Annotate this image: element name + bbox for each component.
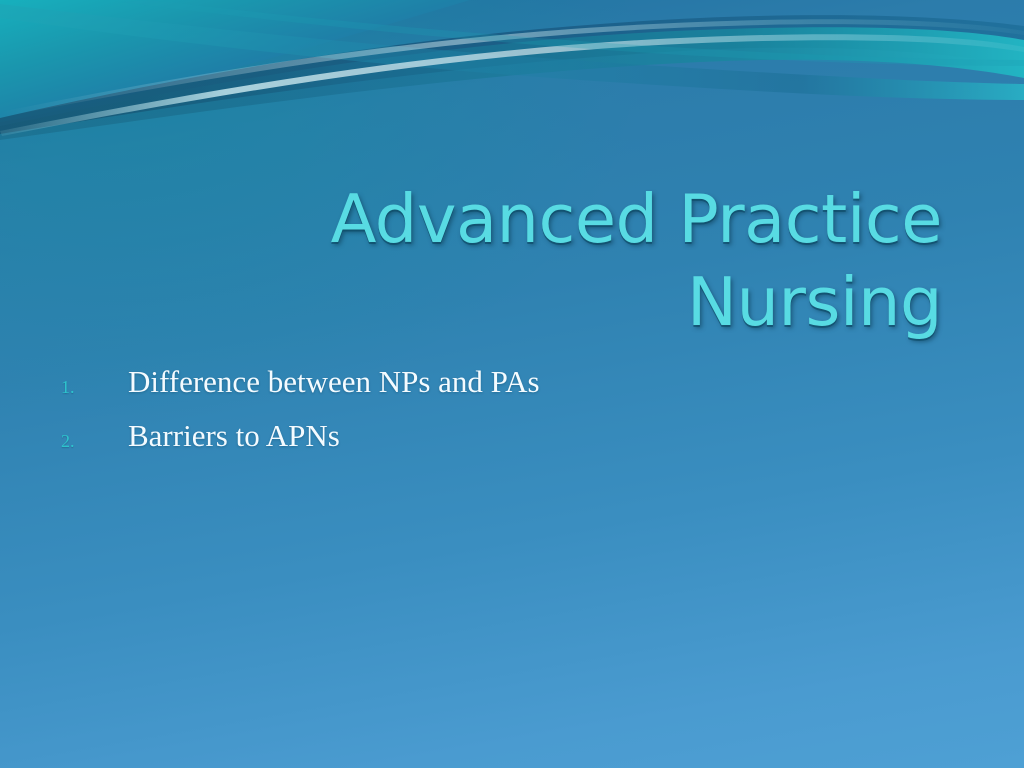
slide-title: Advanced Practice Nursing [180, 178, 942, 344]
bullet-list: 1. Difference between NPs and PAs 2. Bar… [55, 362, 955, 457]
list-item-label: Barriers to APNs [128, 418, 340, 453]
slide-title-text: Advanced Practice Nursing [180, 178, 942, 344]
list-item: 2. Barriers to APNs [55, 416, 955, 456]
slide-body: 1. Difference between NPs and PAs 2. Bar… [55, 362, 955, 471]
list-item-marker: 1. [61, 376, 75, 399]
list-item: 1. Difference between NPs and PAs [55, 362, 955, 402]
list-item-label: Difference between NPs and PAs [128, 364, 540, 399]
list-item-marker: 2. [61, 430, 75, 453]
wave-banner-decoration [0, 0, 1024, 140]
presentation-slide: Advanced Practice Nursing 1. Difference … [0, 0, 1024, 768]
